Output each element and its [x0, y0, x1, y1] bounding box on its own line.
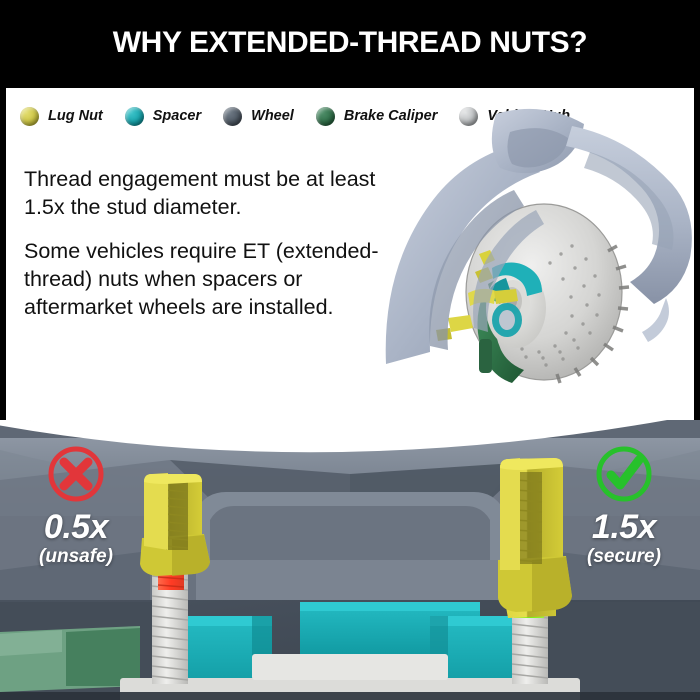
- brake-caliper-swatch-icon: [316, 107, 335, 126]
- spacer-swatch-icon: [125, 107, 144, 126]
- badge-secure: 1.5x (secure): [572, 444, 676, 568]
- badge-value-secure: 1.5x: [572, 510, 676, 544]
- green-check-circle-icon: [594, 444, 654, 504]
- badge-value-unsafe: 0.5x: [24, 510, 128, 544]
- infographic-root: WHY EXTENDED-THREAD NUTS? Lug Nut Spacer…: [0, 0, 700, 700]
- legend-item-spacer: Spacer: [125, 107, 201, 126]
- legend-label-wheel: Wheel: [251, 108, 294, 124]
- red-x-circle-icon: [46, 444, 106, 504]
- info-card: Lug Nut Spacer Wheel Brake Caliper Vehic…: [6, 88, 694, 444]
- comparison-section: 0.5x (unsafe) 1.5x (secure): [0, 420, 700, 700]
- badge-caption-secure: (secure): [572, 546, 676, 568]
- legend-item-lug-nut: Lug Nut: [20, 107, 103, 126]
- legend-label-lug-nut: Lug Nut: [48, 108, 103, 124]
- legend-label-spacer: Spacer: [153, 108, 201, 124]
- wheel-hub-brake-cutaway-render: [376, 96, 694, 436]
- badge-unsafe: 0.5x (unsafe): [24, 444, 128, 568]
- lug-nut-swatch-icon: [20, 107, 39, 126]
- body-copy: Thread engagement must be at least 1.5x …: [24, 166, 402, 338]
- legend-item-wheel: Wheel: [223, 107, 294, 126]
- header-banner: WHY EXTENDED-THREAD NUTS?: [0, 0, 700, 86]
- badge-caption-unsafe: (unsafe): [24, 546, 128, 568]
- paragraph-thread-engagement: Thread engagement must be at least 1.5x …: [24, 166, 402, 222]
- page-title: WHY EXTENDED-THREAD NUTS?: [113, 26, 587, 60]
- paragraph-et-nuts: Some vehicles require ET (extended-threa…: [24, 238, 402, 322]
- wheel-swatch-icon: [223, 107, 242, 126]
